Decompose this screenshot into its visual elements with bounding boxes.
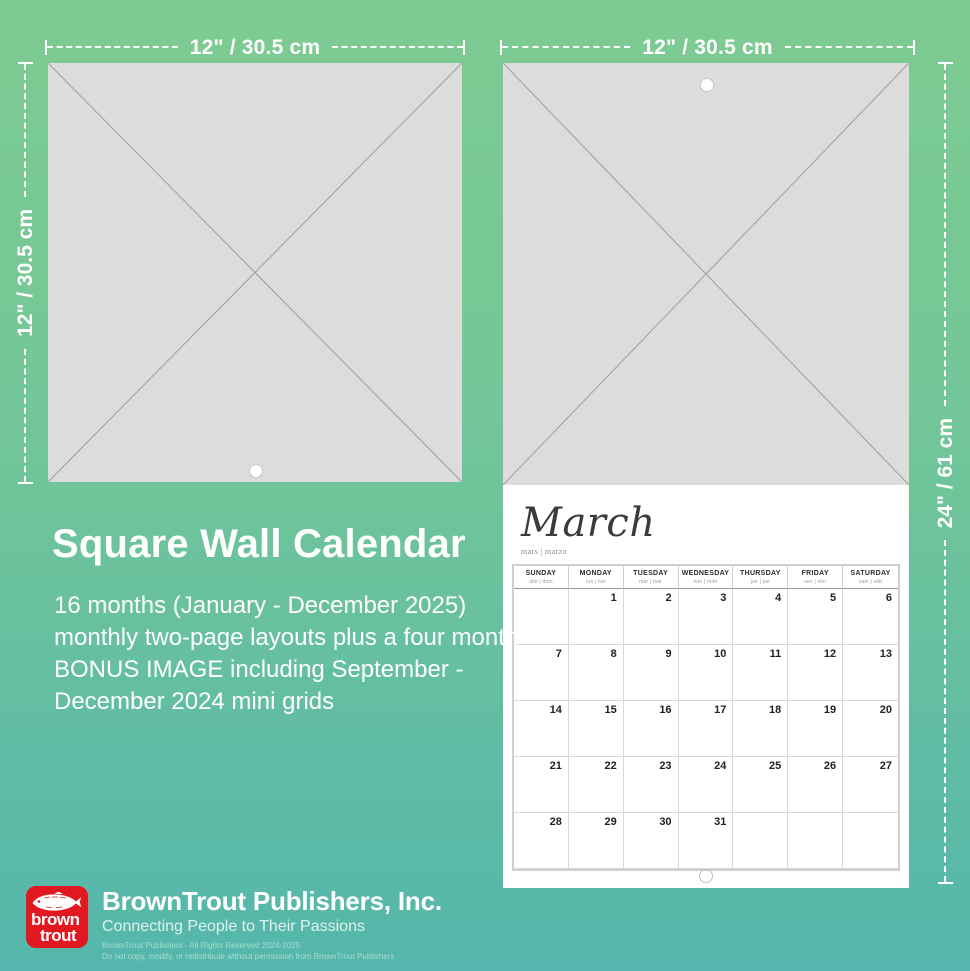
calendar-day-number: 23 <box>659 760 671 772</box>
calendar-dow-saturday: SATURDAYsam | sáb <box>843 566 898 589</box>
dimension-line-left: 12" / 30.5 cm <box>16 62 34 484</box>
calendar-day-number: 1 <box>611 592 617 604</box>
calendar-day-cell[interactable]: 16 <box>624 701 679 757</box>
calendar-day-cell[interactable]: 21 <box>514 757 569 813</box>
calendar-dow-sunday: SUNDAYdim | dom <box>514 566 569 589</box>
calendar-day-cell[interactable]: 12 <box>788 645 843 701</box>
calendar-day-number: 16 <box>659 704 671 716</box>
calendar-month-block: March mars | marzo <box>503 485 909 564</box>
calendar-day-number: 28 <box>550 816 562 828</box>
calendar-day-number: 24 <box>714 760 726 772</box>
calendar-day-number: 19 <box>824 704 836 716</box>
calendar-day-number: 4 <box>775 592 781 604</box>
calendar-day-cell[interactable]: 28 <box>514 813 569 869</box>
calendar-day-number: 29 <box>604 816 616 828</box>
footer-info: BrownTrout Publishers, Inc. Connecting P… <box>102 886 442 963</box>
calendar-day-cell[interactable]: 4 <box>733 589 788 645</box>
calendar-day-cell[interactable]: 2 <box>624 589 679 645</box>
calendar-day-number: 15 <box>604 704 616 716</box>
calendar-day-cell[interactable]: 27 <box>843 757 898 813</box>
page-title: Square Wall Calendar <box>52 524 466 564</box>
calendar-day-number: 2 <box>665 592 671 604</box>
calendar-month-subtitle: mars | marzo <box>521 547 909 556</box>
dow-label-en: FRIDAY <box>788 570 842 578</box>
dimension-dash-top <box>944 64 946 406</box>
legal-line-1: BrownTrout Publishers - All Rights Reser… <box>102 941 442 952</box>
calendar-dow-header-row: SUNDAYdim | domMONDAYlun | lunTUESDAYmar… <box>513 565 899 589</box>
calendar-day-cell[interactable]: 30 <box>624 813 679 869</box>
dimension-label-top-left: 12" / 30.5 cm <box>178 37 332 58</box>
calendar-dow-tuesday: TUESDAYmar | mar <box>624 566 679 589</box>
calendar-day-cell[interactable]: 15 <box>569 701 624 757</box>
dimension-dash-left <box>502 46 630 48</box>
calendar-day-number: 14 <box>550 704 562 716</box>
calendar-day-cell[interactable]: 31 <box>679 813 734 869</box>
calendar-day-number: 25 <box>769 760 781 772</box>
dimension-dash-right <box>332 46 463 48</box>
panel-diagonals-icon <box>503 63 909 485</box>
calendar-day-cell[interactable]: 23 <box>624 757 679 813</box>
calendar-day-cell[interactable]: 18 <box>733 701 788 757</box>
dimension-dash-bottom <box>24 349 26 482</box>
dimension-cap-end <box>913 40 915 55</box>
calendar-day-cell[interactable]: 24 <box>679 757 734 813</box>
calendar-day-cell[interactable]: 6 <box>843 589 898 645</box>
dow-label-abbrev: sam | sáb <box>843 579 898 586</box>
dimension-line-top-right: 12" / 30.5 cm <box>500 38 915 56</box>
trout-fish-icon <box>30 892 84 912</box>
dow-label-en: MONDAY <box>569 570 623 578</box>
right-image-panel <box>503 63 909 485</box>
calendar-dow-thursday: THURSDAYjue | jue <box>733 566 788 589</box>
footer: brown trout BrownTrout Publishers, Inc. … <box>26 886 442 963</box>
calendar-day-cell[interactable]: 10 <box>679 645 734 701</box>
calendar-day-cell[interactable]: 11 <box>733 645 788 701</box>
product-mockup-canvas: 12" / 30.5 cm 12" / 30.5 cm 12" / 30.5 c… <box>0 0 970 971</box>
calendar-dow-friday: FRIDAYven | vier <box>788 566 843 589</box>
dimension-cap-end <box>938 882 953 884</box>
hole-punch-left-panel <box>249 464 263 478</box>
calendar-day-number: 27 <box>880 760 892 772</box>
dimension-dash-left <box>47 46 178 48</box>
calendar-day-cell[interactable]: 17 <box>679 701 734 757</box>
hole-punch-calendar-page <box>699 869 713 883</box>
dow-label-abbrev: mar | mar <box>624 579 678 586</box>
calendar-dow-monday: MONDAYlun | lun <box>569 566 624 589</box>
calendar-grid-page: March mars | marzo SUNDAYdim | domMONDAY… <box>503 485 909 888</box>
dimension-line-right: 24" / 61 cm <box>936 62 954 884</box>
calendar-day-cell[interactable]: 22 <box>569 757 624 813</box>
calendar-day-cell[interactable] <box>733 813 788 869</box>
calendar-dow-wednesday: WEDNESDAYmer | miér <box>679 566 734 589</box>
dow-label-en: SUNDAY <box>514 570 568 578</box>
brand-name: BrownTrout Publishers, Inc. <box>102 888 442 915</box>
brand-tagline: Connecting People to Their Passions <box>102 917 442 936</box>
dow-label-abbrev: lun | lun <box>569 579 623 586</box>
calendar-day-number: 3 <box>720 592 726 604</box>
dimension-dash-right <box>785 46 913 48</box>
calendar-day-number: 13 <box>880 648 892 660</box>
dimension-dash-bottom <box>944 540 946 882</box>
browntrout-logo: brown trout <box>26 886 88 948</box>
dow-label-abbrev: ven | vier <box>788 579 842 586</box>
calendar-day-cell[interactable] <box>843 813 898 869</box>
dimension-cap-end <box>18 482 33 484</box>
calendar-day-number: 12 <box>824 648 836 660</box>
dow-label-en: SATURDAY <box>843 570 898 578</box>
calendar-day-number: 6 <box>886 592 892 604</box>
calendar-day-number: 7 <box>556 648 562 660</box>
calendar-day-cell[interactable]: 1 <box>569 589 624 645</box>
dimension-dash-top <box>24 64 26 197</box>
left-image-panel <box>48 63 462 482</box>
calendar-day-number: 26 <box>824 760 836 772</box>
calendar-day-number: 22 <box>604 760 616 772</box>
calendar-day-number: 5 <box>830 592 836 604</box>
product-description: 16 months (January - December 2025) mont… <box>54 590 524 718</box>
dimension-line-top-left: 12" / 30.5 cm <box>45 38 465 56</box>
calendar-day-cell[interactable]: 20 <box>843 701 898 757</box>
calendar-day-number: 21 <box>550 760 562 772</box>
calendar-day-number: 30 <box>659 816 671 828</box>
calendar-day-cell[interactable]: 26 <box>788 757 843 813</box>
calendar-date-cells: 1234567891011121314151617181920212223242… <box>513 589 899 870</box>
calendar-day-number: 17 <box>714 704 726 716</box>
calendar-day-cell[interactable]: 5 <box>788 589 843 645</box>
calendar-day-number: 31 <box>714 816 726 828</box>
calendar-month-title: March <box>521 503 909 543</box>
calendar-day-number: 10 <box>714 648 726 660</box>
dow-label-en: THURSDAY <box>733 570 787 578</box>
calendar-grid: SUNDAYdim | domMONDAYlun | lunTUESDAYmar… <box>512 564 900 871</box>
calendar-day-cell[interactable]: 9 <box>624 645 679 701</box>
logo-word-trout: trout <box>40 928 80 944</box>
logo-wordmark: brown trout <box>31 912 80 943</box>
dimension-label-right: 24" / 61 cm <box>935 406 956 540</box>
calendar-day-cell[interactable]: 19 <box>788 701 843 757</box>
calendar-day-number: 9 <box>665 648 671 660</box>
hole-punch-right-panel <box>700 78 714 92</box>
calendar-day-number: 18 <box>769 704 781 716</box>
calendar-day-cell[interactable]: 8 <box>569 645 624 701</box>
dow-label-abbrev: jue | jue <box>733 579 787 586</box>
legal-notice: BrownTrout Publishers - All Rights Reser… <box>102 941 442 963</box>
dow-label-en: WEDNESDAY <box>679 570 733 578</box>
calendar-day-cell[interactable]: 25 <box>733 757 788 813</box>
dimension-label-left: 12" / 30.5 cm <box>15 197 36 349</box>
calendar-day-number: 20 <box>880 704 892 716</box>
calendar-day-cell[interactable]: 29 <box>569 813 624 869</box>
legal-line-2: Do not copy, modify, or redistribute wit… <box>102 952 442 963</box>
calendar-day-cell[interactable] <box>788 813 843 869</box>
calendar-day-cell[interactable]: 3 <box>679 589 734 645</box>
calendar-day-number: 11 <box>770 648 782 660</box>
panel-diagonals-icon <box>48 63 462 482</box>
dimension-label-top-right: 12" / 30.5 cm <box>630 37 784 58</box>
calendar-day-number: 8 <box>611 648 617 660</box>
calendar-day-cell[interactable]: 13 <box>843 645 898 701</box>
dow-label-abbrev: dim | dom <box>514 579 568 586</box>
dow-label-abbrev: mer | miér <box>679 579 733 586</box>
dimension-cap-end <box>463 40 465 55</box>
dow-label-en: TUESDAY <box>624 570 678 578</box>
